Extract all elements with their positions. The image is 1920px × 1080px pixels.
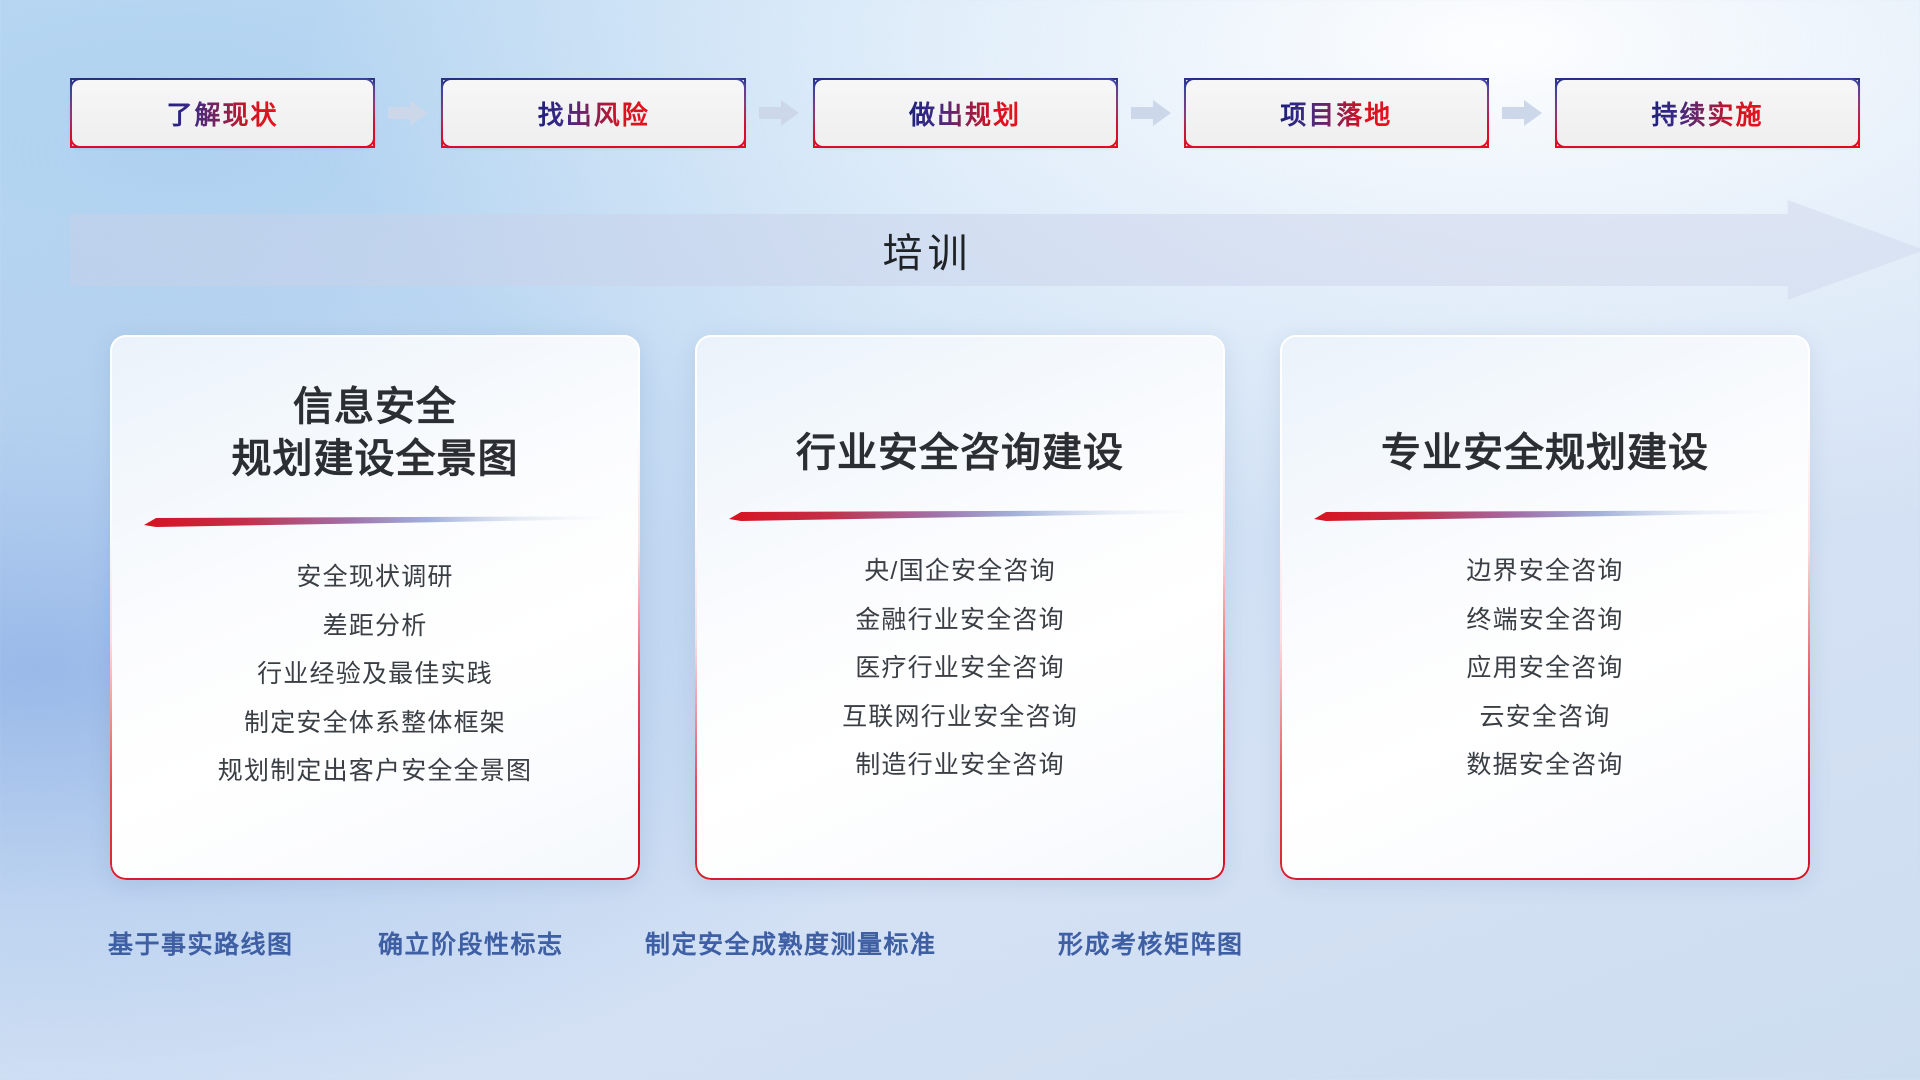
- list-item: 互联网行业安全咨询: [842, 699, 1078, 737]
- list-item: 云安全咨询: [1479, 699, 1610, 737]
- card-industry-security-consulting[interactable]: 行业安全咨询建设 央/国企安全咨询 金融行业安全咨询: [695, 335, 1225, 880]
- card-title-line: 规划建设全景图: [232, 433, 519, 485]
- card-row: 信息安全 规划建设全景图 安全现状调研 差: [110, 335, 1810, 880]
- foot-label: 确立阶段性标志: [378, 925, 564, 961]
- list-item: 央/国企安全咨询: [864, 553, 1056, 591]
- foot-label: 基于事实路线图: [108, 925, 294, 961]
- process-step-row: 了解现状 找出风险 做出规划 项目落地 持续实施: [70, 78, 1860, 148]
- arrow-right-icon: [1502, 98, 1542, 128]
- card-professional-security-planning[interactable]: 专业安全规划建设 边界安全咨询 终端安全咨询: [1280, 335, 1810, 880]
- step-box-3[interactable]: 做出规划: [813, 78, 1118, 148]
- step-label: 找出风险: [538, 95, 650, 132]
- card-divider: [144, 515, 606, 527]
- list-item: 规划制定出客户安全全景图: [218, 753, 532, 791]
- list-item: 制定安全体系整体框架: [244, 705, 506, 743]
- card-title-line: 行业安全咨询建设: [796, 427, 1124, 479]
- card-divider: [1314, 509, 1776, 521]
- card-title-line: 信息安全: [232, 381, 519, 433]
- step-label: 了解现状: [166, 95, 278, 132]
- arrow-right-icon: [1131, 98, 1171, 128]
- list-item: 数据安全咨询: [1466, 747, 1623, 785]
- list-item: 金融行业安全咨询: [855, 602, 1065, 640]
- step-box-2[interactable]: 找出风险: [441, 78, 746, 148]
- card-list: 边界安全咨询 终端安全咨询 应用安全咨询 云安全咨询 数据安全咨询: [1314, 553, 1776, 785]
- list-item: 终端安全咨询: [1466, 602, 1623, 640]
- card-title: 行业安全咨询建设: [796, 427, 1124, 479]
- step-label: 项目落地: [1280, 95, 1392, 132]
- step-box-4[interactable]: 项目落地: [1184, 78, 1489, 148]
- training-banner: 培训: [70, 200, 1920, 300]
- list-item: 边界安全咨询: [1466, 553, 1623, 591]
- list-item: 差距分析: [323, 608, 428, 646]
- step-label: 持续实施: [1651, 95, 1763, 132]
- card-information-security-blueprint[interactable]: 信息安全 规划建设全景图 安全现状调研 差: [110, 335, 640, 880]
- step-label: 做出规划: [909, 95, 1021, 132]
- card-title-line: 专业安全规划建设: [1381, 427, 1709, 479]
- list-item: 安全现状调研: [296, 559, 453, 597]
- arrow-right-icon: [388, 98, 428, 128]
- step-box-5[interactable]: 持续实施: [1555, 78, 1860, 148]
- card-divider: [729, 509, 1191, 521]
- list-item: 行业经验及最佳实践: [257, 656, 493, 694]
- banner-title: 培训: [70, 200, 1785, 300]
- card-list: 安全现状调研 差距分析 行业经验及最佳实践 制定安全体系整体框架 规划制定出客户…: [144, 559, 606, 791]
- list-item: 应用安全咨询: [1466, 650, 1623, 688]
- step-box-1[interactable]: 了解现状: [70, 78, 375, 148]
- footer-label-row: 基于事实路线图 确立阶段性标志 制定安全成熟度测量标准 形成考核矩阵图: [0, 925, 1920, 971]
- foot-label: 形成考核矩阵图: [1058, 925, 1244, 961]
- list-item: 制造行业安全咨询: [855, 747, 1065, 785]
- card-list: 央/国企安全咨询 金融行业安全咨询 医疗行业安全咨询 互联网行业安全咨询 制造行…: [729, 553, 1191, 785]
- foot-label: 制定安全成熟度测量标准: [645, 925, 937, 961]
- card-title: 专业安全规划建设: [1381, 427, 1709, 479]
- arrow-right-icon: [759, 98, 799, 128]
- card-title: 信息安全 规划建设全景图: [232, 381, 519, 485]
- list-item: 医疗行业安全咨询: [855, 650, 1065, 688]
